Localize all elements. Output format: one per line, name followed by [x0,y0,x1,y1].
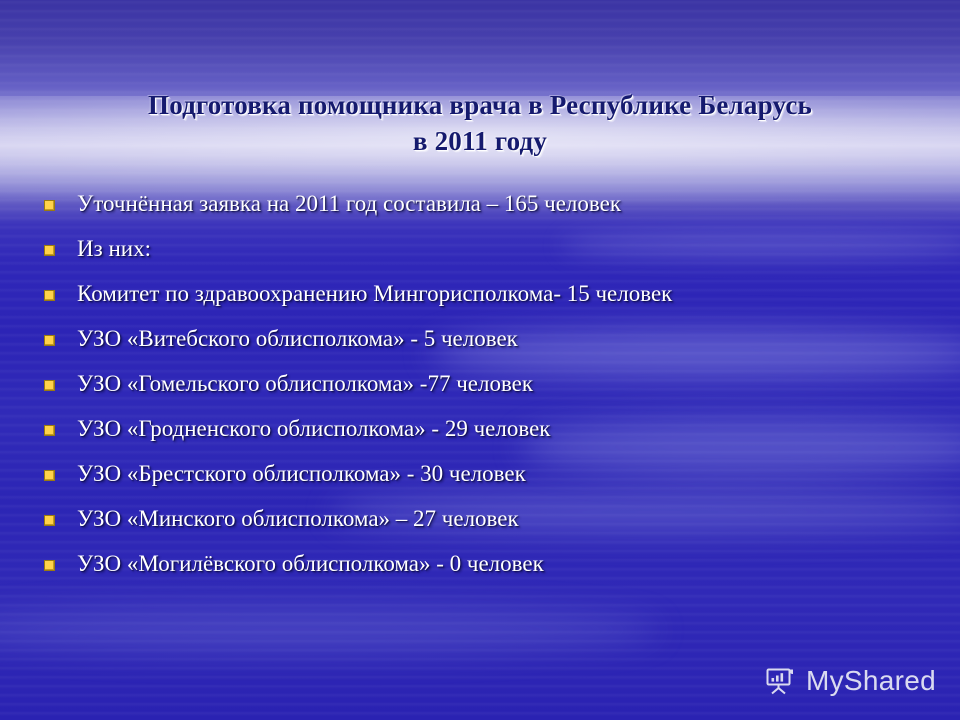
bullet-square-icon [44,425,55,436]
list-item: УЗО «Минского облисполкома» – 27 человек [0,497,960,542]
bullet-square-icon [44,560,55,571]
bullet-square-icon [44,335,55,346]
bullet-square-icon [44,515,55,526]
list-item-label: Из них: [77,237,151,261]
bullet-square-icon [44,380,55,391]
list-item-label: УЗО «Брестского облисполкома» - 30 челов… [77,462,526,486]
list-item-label: УЗО «Гродненского облисполкома» - 29 чел… [77,417,550,441]
bullet-square-icon [44,200,55,211]
list-item: УЗО «Витебского облисполкома» - 5 челове… [0,317,960,362]
myshared-watermark-label: MyShared [806,667,936,695]
list-item: Из них: [0,227,960,272]
list-item: УЗО «Гомельского облисполкома» -77 челов… [0,362,960,407]
bullet-square-icon [44,470,55,481]
slide-title-line-2: в 2011 году [0,124,960,160]
list-item: УЗО «Брестского облисполкома» - 30 челов… [0,452,960,497]
list-item-label: УЗО «Гомельского облисполкома» -77 челов… [77,372,533,396]
list-item-label: Уточнённая заявка на 2011 год составила … [77,192,621,216]
list-item: Комитет по здравоохранению Мингорисполко… [0,272,960,317]
bullet-square-icon [44,245,55,256]
list-item-label: УЗО «Витебского облисполкома» - 5 челове… [77,327,518,351]
slide-title: Подготовка помощника врача в Республике … [0,52,960,196]
list-item: Уточнённая заявка на 2011 год составила … [0,182,960,227]
list-item-label: УЗО «Минского облисполкома» – 27 человек [77,507,519,531]
list-item: УЗО «Гродненского облисполкома» - 29 чел… [0,407,960,452]
bullet-square-icon [44,290,55,301]
cloud-wisp [0,608,660,652]
myshared-watermark[interactable]: MyShared [763,664,936,698]
slide-title-line-1: Подготовка помощника врача в Республике … [148,90,812,120]
presentation-chart-icon [763,664,797,698]
slide-canvas: Подготовка помощника врача в Республике … [0,0,960,720]
bullet-list: Уточнённая заявка на 2011 год составила … [0,182,960,587]
list-item-label: Комитет по здравоохранению Мингорисполко… [77,282,672,306]
list-item: УЗО «Могилёвского облисполкома» - 0 чело… [0,542,960,587]
list-item-label: УЗО «Могилёвского облисполкома» - 0 чело… [77,552,544,576]
